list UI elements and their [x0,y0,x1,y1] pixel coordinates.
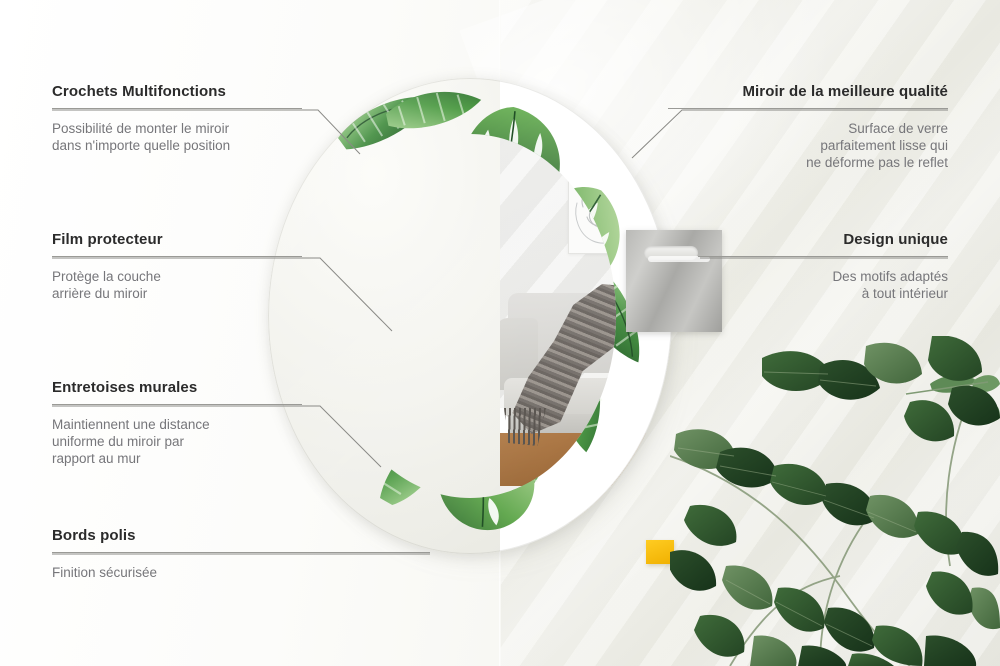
title-underline [52,108,302,109]
feature-title: Crochets Multifonctions [52,83,302,100]
feature-callout-polished-edges: Bords polis Finition sécurisée [52,527,430,581]
product-infographic: Crochets Multifonctions Possibilité de m… [0,0,1000,666]
title-underline [698,256,948,257]
title-underline [52,404,302,405]
title-underline [52,256,302,257]
decorative-foliage [670,336,1000,666]
feature-title: Entretoises murales [52,379,302,396]
feature-callout-wall-spacers: Entretoises murales Maintiennent une dis… [52,379,302,467]
feature-description: Surface de verreparfaitement lisse quine… [668,120,948,171]
feature-callout-unique-design: Design unique Des motifs adaptésà tout i… [698,231,948,302]
feature-description: Protège la couchearrière du miroir [52,268,302,302]
title-underline [52,552,430,553]
feature-description: Possibilité de monter le miroirdans n'im… [52,120,302,154]
feature-description: Des motifs adaptésà tout intérieur [698,268,948,302]
feature-description: Finition sécurisée [52,564,430,581]
leaf-border [268,78,672,554]
mirror-body [268,78,672,554]
feature-callout-best-quality-mirror: Miroir de la meilleure qualité Surface d… [668,83,948,171]
feature-callout-protective-film: Film protecteur Protège la couchearrière… [52,231,302,302]
feature-title: Miroir de la meilleure qualité [668,83,948,100]
title-underline [668,108,948,109]
round-mirror-product [268,78,688,568]
feature-title: Bords polis [52,527,430,544]
feature-callout-multifunction-hooks: Crochets Multifonctions Possibilité de m… [52,83,302,154]
feature-description: Maintiennent une distanceuniforme du mir… [52,416,302,467]
feature-title: Film protecteur [52,231,302,248]
feature-title: Design unique [698,231,948,248]
